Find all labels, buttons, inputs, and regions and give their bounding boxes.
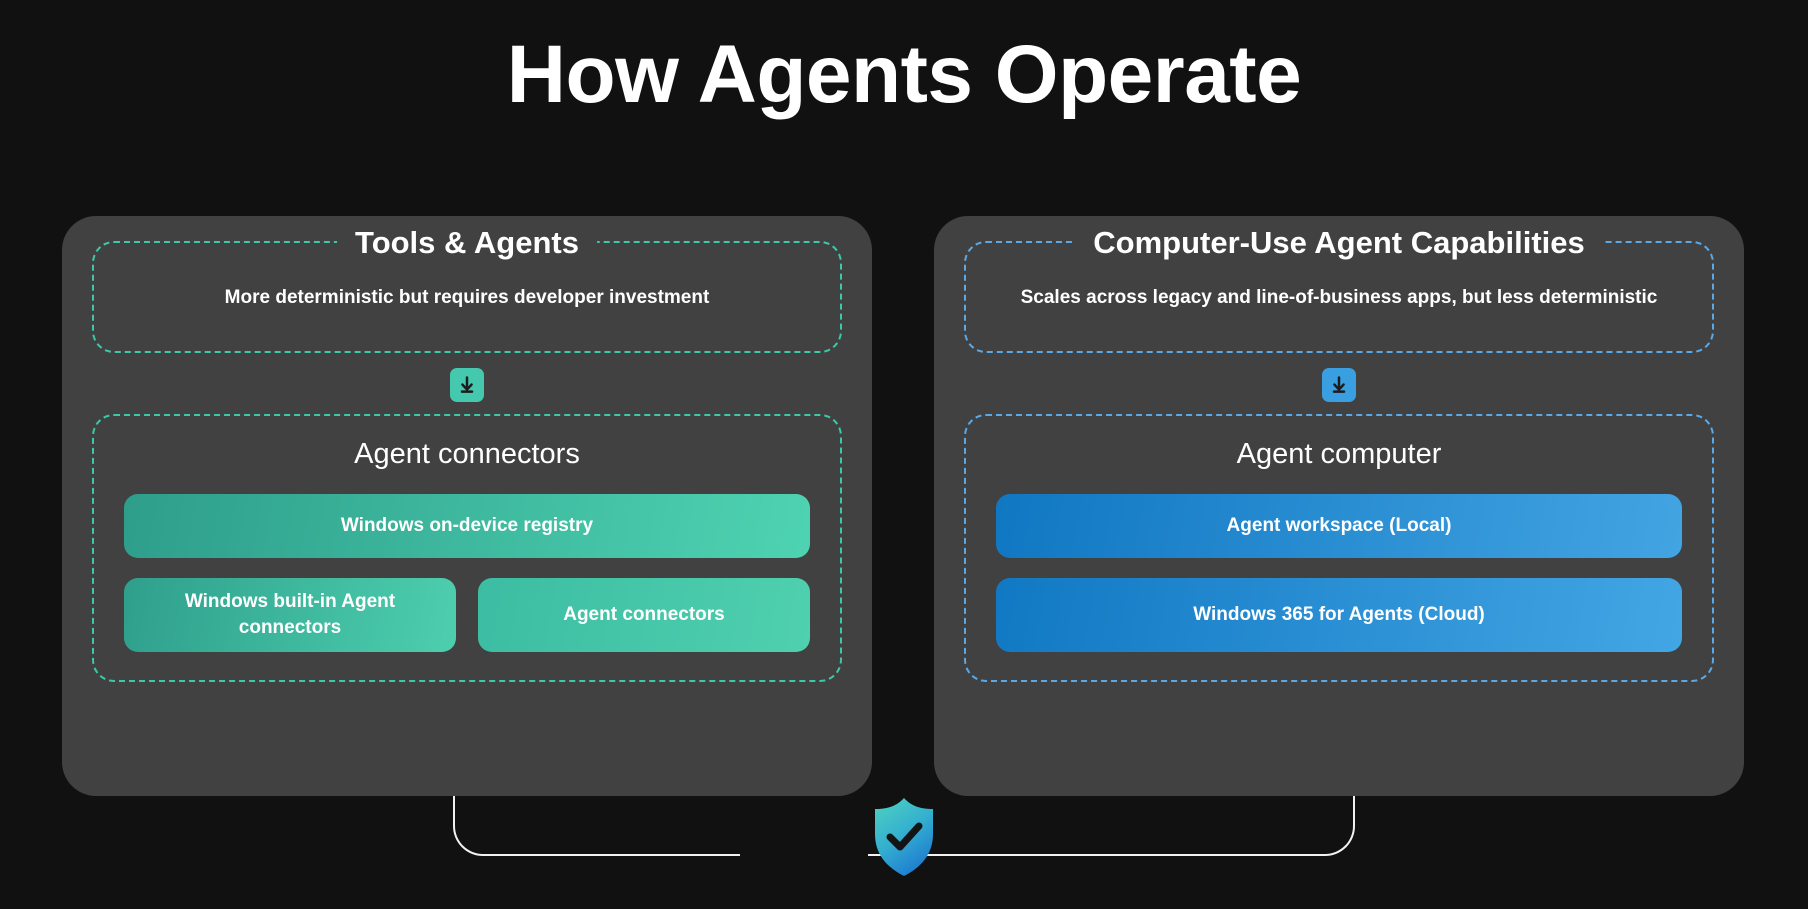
group-description-tools-and-agents: More deterministic but requires develope… bbox=[94, 285, 840, 311]
group-computer-use-summary: Computer-Use Agent Capabilities Scales a… bbox=[964, 241, 1714, 353]
group-legend-tools-and-agents: Tools & Agents bbox=[337, 220, 597, 266]
diagram-canvas: How Agents Operate Tools & Agents More d… bbox=[0, 0, 1808, 909]
pill-row-left: Windows built-in Agent connectors Agent … bbox=[124, 578, 810, 652]
group-title-agent-connectors: Agent connectors bbox=[94, 438, 840, 471]
shield-check-icon bbox=[868, 796, 940, 878]
pill-row-right: Windows 365 for Agents (Cloud) bbox=[996, 578, 1682, 652]
pill-stack-left: Windows on-device registry Windows built… bbox=[124, 494, 810, 652]
pill-stack-right: Agent workspace (Local) Windows 365 for … bbox=[996, 494, 1682, 652]
group-tools-and-agents-summary: Tools & Agents More deterministic but re… bbox=[92, 241, 842, 353]
group-title-agent-computer: Agent computer bbox=[966, 438, 1712, 471]
panel-computer-use-agent-capabilities: Computer-Use Agent Capabilities Scales a… bbox=[934, 216, 1744, 796]
group-agent-connectors: Agent connectors Windows on-device regis… bbox=[92, 414, 842, 682]
pill-agent-connectors[interactable]: Agent connectors bbox=[478, 578, 810, 652]
group-agent-computer: Agent computer Agent workspace (Local) W… bbox=[964, 414, 1714, 682]
pill-windows-on-device-registry[interactable]: Windows on-device registry bbox=[124, 494, 810, 558]
group-description-computer-use: Scales across legacy and line-of-busines… bbox=[966, 285, 1712, 311]
group-legend-computer-use-agent-capabilities: Computer-Use Agent Capabilities bbox=[1075, 220, 1602, 266]
pill-agent-workspace-local[interactable]: Agent workspace (Local) bbox=[996, 494, 1682, 558]
panel-tools-and-agents: Tools & Agents More deterministic but re… bbox=[62, 216, 872, 796]
download-arrow-icon bbox=[1322, 368, 1356, 402]
page-title: How Agents Operate bbox=[0, 34, 1808, 116]
pill-windows-built-in-agent-connectors[interactable]: Windows built-in Agent connectors bbox=[124, 578, 456, 652]
connector-bracket-gap bbox=[740, 830, 868, 864]
pill-windows-365-for-agents-cloud[interactable]: Windows 365 for Agents (Cloud) bbox=[996, 578, 1682, 652]
download-arrow-icon bbox=[450, 368, 484, 402]
